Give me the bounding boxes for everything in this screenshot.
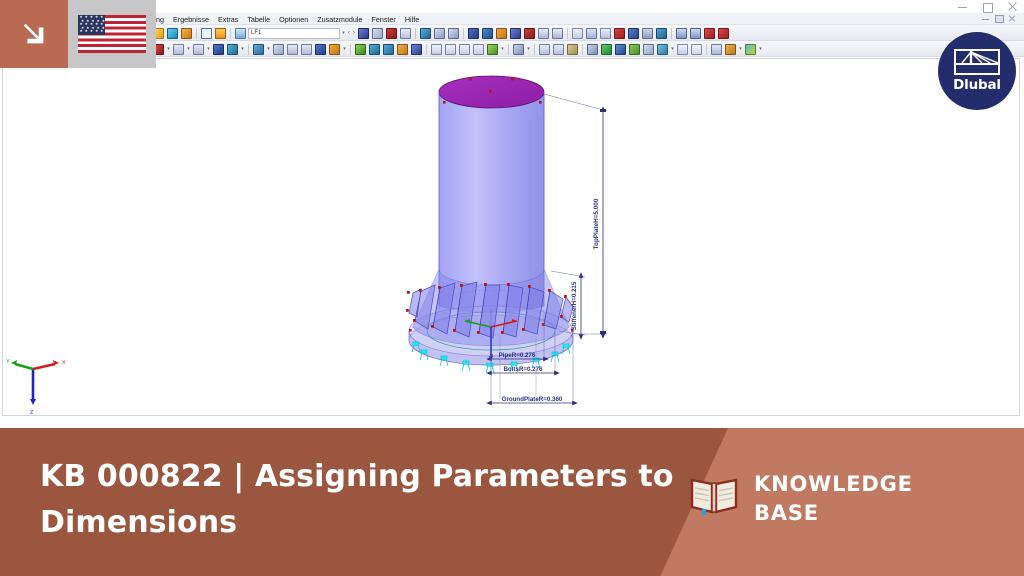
isolines-icon[interactable] bbox=[614, 43, 627, 56]
grid-show-icon[interactable] bbox=[300, 43, 313, 56]
toolbar-separator bbox=[196, 28, 197, 39]
dlubal-wordmark: Dlubal bbox=[953, 77, 1001, 93]
menu-item-optionen[interactable]: Optionen bbox=[279, 15, 308, 24]
kb-line-2: BASE bbox=[754, 499, 913, 528]
color-scale-icon[interactable] bbox=[690, 43, 703, 56]
bottom-banner: KB 000822 | Assigning Parameters to Dime… bbox=[0, 428, 1024, 576]
toolbar-separator bbox=[415, 28, 416, 39]
toolbar-separator bbox=[426, 44, 427, 55]
zoom-in-icon[interactable] bbox=[368, 43, 381, 56]
toolbar-separator bbox=[230, 28, 231, 39]
maximize-icon[interactable] bbox=[982, 1, 993, 12]
axis-label-x: X bbox=[62, 360, 66, 366]
chevron-down-icon[interactable]: ▾ bbox=[266, 44, 271, 55]
rotate-icon[interactable] bbox=[627, 27, 640, 40]
menu-item-tabelle[interactable]: Tabelle bbox=[247, 15, 270, 24]
toolbar-separator bbox=[706, 44, 707, 55]
model-tools-icon[interactable] bbox=[586, 43, 599, 56]
bookmark-red-icon[interactable] bbox=[703, 27, 716, 40]
open-folder-icon[interactable] bbox=[166, 27, 179, 40]
toolbar-row-2-items[interactable]: ▾ ▾ ▾ ▾ ▾ ▾ bbox=[152, 41, 763, 57]
toolbar-separator bbox=[582, 44, 583, 55]
print-preview-icon[interactable] bbox=[234, 27, 247, 40]
zoom-all-icon[interactable] bbox=[396, 43, 409, 56]
dimension-icon[interactable] bbox=[538, 43, 551, 56]
stresses-icon[interactable] bbox=[509, 27, 522, 40]
mdi-minimize-icon[interactable] bbox=[982, 14, 990, 22]
window-tile-icon[interactable] bbox=[675, 27, 688, 40]
contact-forces-icon[interactable] bbox=[523, 27, 536, 40]
toolbar-separator bbox=[508, 44, 509, 55]
surface-results-icon[interactable] bbox=[600, 43, 613, 56]
toolbar-separator bbox=[248, 44, 249, 55]
dimension-label-bolts-radius: BoltsR=0.276 bbox=[503, 366, 543, 373]
dimension-label-pipe-radius: PipeR=0.276 bbox=[499, 352, 536, 359]
zoom-window-icon[interactable] bbox=[172, 43, 185, 56]
view-xz-icon[interactable] bbox=[444, 43, 457, 56]
language-arrow-badge bbox=[0, 0, 68, 68]
mdi-close-icon[interactable] bbox=[1008, 14, 1016, 22]
window-controls[interactable] bbox=[957, 1, 1018, 12]
dimension-label-top-plate-height: TopPlateH=5.000 bbox=[593, 198, 600, 249]
open-book-icon bbox=[690, 474, 738, 516]
close-icon[interactable] bbox=[1007, 1, 1018, 12]
zoom-out-icon[interactable] bbox=[382, 43, 395, 56]
toolbar-separator bbox=[567, 28, 568, 39]
sections-icon[interactable] bbox=[551, 27, 564, 40]
view-yz-icon[interactable] bbox=[458, 43, 471, 56]
minimize-icon[interactable] bbox=[957, 1, 968, 12]
bookmark-add-icon[interactable] bbox=[717, 27, 730, 40]
ortho-icon[interactable] bbox=[328, 43, 341, 56]
node-icon[interactable] bbox=[585, 27, 598, 40]
nav-next-icon[interactable]: › bbox=[352, 30, 356, 36]
chevron-down-icon[interactable]: ▾ bbox=[186, 44, 191, 55]
model-viewport[interactable]: TopPlateH=5.000 StiffenerH=0.215 PipeR=0… bbox=[2, 58, 1020, 416]
language-flag-badge: ★ ★ ★ ★ ★ ★ ★ ★ ★ ★ ★ ★ ★ ★ ★ ★ ★ ★ ★ ★ … bbox=[68, 0, 156, 68]
comment-icon[interactable] bbox=[552, 43, 565, 56]
delete-icon[interactable] bbox=[613, 27, 626, 40]
support-reactions-icon[interactable] bbox=[481, 27, 494, 40]
table-view-icon[interactable] bbox=[200, 27, 213, 40]
result-table-icon[interactable] bbox=[676, 43, 689, 56]
arrow-down-right-icon bbox=[19, 19, 49, 49]
view-free-icon[interactable] bbox=[486, 43, 499, 56]
chevron-down-icon[interactable]: ▾ bbox=[342, 44, 347, 55]
menu-item-hilfe[interactable]: Hilfe bbox=[405, 15, 419, 24]
snap-object-icon[interactable] bbox=[314, 43, 327, 56]
chevron-down-icon[interactable]: ▾ bbox=[526, 44, 531, 55]
nav-prev-icon[interactable]: ‹ bbox=[347, 30, 351, 36]
mesh-icon[interactable] bbox=[419, 27, 432, 40]
chevron-down-icon[interactable]: ▾ bbox=[670, 44, 675, 55]
grid-snap-icon[interactable] bbox=[286, 43, 299, 56]
toolbar-row-1-items[interactable]: LF1 ▾ ‹ › bbox=[152, 25, 730, 41]
warning-icon[interactable] bbox=[599, 27, 612, 40]
measure-icon[interactable] bbox=[571, 27, 584, 40]
print-icon[interactable] bbox=[710, 43, 723, 56]
result-legend-icon[interactable] bbox=[744, 43, 757, 56]
rotate-view-icon[interactable] bbox=[212, 43, 225, 56]
render-view-icon[interactable] bbox=[214, 27, 227, 40]
result-combination-icon[interactable] bbox=[385, 27, 398, 40]
model-3d-scene[interactable]: TopPlateH=5.000 StiffenerH=0.215 PipeR=0… bbox=[3, 59, 1020, 416]
calculate-all-icon[interactable] bbox=[447, 27, 460, 40]
result-diagram-icon[interactable] bbox=[537, 27, 550, 40]
clipping-plane-icon[interactable] bbox=[566, 43, 579, 56]
color-palette-icon[interactable] bbox=[724, 43, 737, 56]
view-xy-icon[interactable] bbox=[430, 43, 443, 56]
calculate-icon[interactable] bbox=[433, 27, 446, 40]
redo-icon[interactable] bbox=[272, 43, 285, 56]
photo-icon[interactable] bbox=[641, 27, 654, 40]
dlubal-logo[interactable]: Dlubal bbox=[938, 32, 1016, 110]
chevron-down-icon[interactable]: ▾ bbox=[240, 44, 245, 55]
toolbar-separator bbox=[534, 44, 535, 55]
menu-item-ergebnisse[interactable]: Ergebnisse bbox=[173, 15, 209, 24]
menu-item-extras[interactable]: Extras bbox=[218, 15, 238, 24]
toolbar-separator bbox=[463, 28, 464, 39]
axis-label-z: Z bbox=[30, 410, 34, 416]
load-case-combo[interactable]: LF1 bbox=[248, 28, 340, 39]
chevron-down-icon[interactable]: ▾ bbox=[758, 44, 763, 55]
menu-item-zusatzmodule[interactable]: Zusatzmodule bbox=[317, 15, 362, 24]
select-icon[interactable] bbox=[399, 27, 412, 40]
chevron-down-icon[interactable]: ▾ bbox=[206, 44, 211, 55]
menu-bar-items[interactable]: ung Ergebnisse Extras Tabelle Optionen Z… bbox=[152, 13, 419, 25]
menu-item-fenster[interactable]: Fenster bbox=[371, 15, 395, 24]
display-properties-icon[interactable] bbox=[512, 43, 525, 56]
visibility-icon[interactable] bbox=[354, 43, 367, 56]
save-icon[interactable] bbox=[180, 27, 193, 40]
zoom-previous-icon[interactable] bbox=[410, 43, 423, 56]
mdi-restore-icon[interactable] bbox=[995, 14, 1003, 22]
knowledge-base-label: KNOWLEDGE BASE bbox=[754, 470, 913, 527]
mdi-window-controls[interactable] bbox=[982, 14, 1016, 22]
axis-label-y: Y bbox=[6, 359, 10, 365]
chevron-down-icon[interactable]: ▾ bbox=[341, 28, 346, 39]
page-title: KB 000822 | Assigning Parameters to Dime… bbox=[40, 454, 680, 545]
global-axes-triad: X Y Z bbox=[6, 359, 66, 416]
dlubal-framework-icon bbox=[954, 49, 1000, 75]
load-combination-icon[interactable] bbox=[371, 27, 384, 40]
pipe-surface bbox=[439, 92, 544, 312]
dimension-label-stiffener-height: StiffenerH=0.215 bbox=[571, 281, 578, 330]
chevron-down-icon[interactable]: ▾ bbox=[500, 44, 505, 55]
internal-forces-icon[interactable] bbox=[495, 27, 508, 40]
toolbar-separator bbox=[350, 44, 351, 55]
chevron-down-icon[interactable]: ▾ bbox=[738, 44, 743, 55]
undo-icon[interactable] bbox=[252, 43, 265, 56]
loads-icon[interactable] bbox=[357, 27, 370, 40]
dimension-label-ground-plate-radius: GroundPlateR=0.360 bbox=[502, 396, 563, 403]
screenshot-root: ung Ergebnisse Extras Tabelle Optionen Z… bbox=[0, 0, 1024, 576]
window-cascade-icon[interactable] bbox=[689, 27, 702, 40]
toolbar-separator bbox=[671, 28, 672, 39]
view-iso-icon[interactable] bbox=[472, 43, 485, 56]
result-beams-icon[interactable] bbox=[642, 43, 655, 56]
values-on-surfaces-icon[interactable] bbox=[628, 43, 641, 56]
smoothing-icon[interactable] bbox=[656, 43, 669, 56]
us-flag-icon: ★ ★ ★ ★ ★ ★ ★ ★ ★ ★ ★ ★ ★ ★ ★ ★ ★ ★ ★ ★ … bbox=[78, 15, 146, 53]
wind-icon[interactable] bbox=[655, 27, 668, 40]
flag-stars: ★ ★ ★ ★ ★ ★ ★ ★ ★ ★ ★ ★ ★ ★ ★ ★ ★ ★ ★ ★ … bbox=[78, 15, 105, 35]
pan-icon[interactable] bbox=[192, 43, 205, 56]
chevron-down-icon[interactable]: ▾ bbox=[166, 44, 171, 55]
deformation-icon[interactable] bbox=[467, 27, 480, 40]
render-mode-icon[interactable] bbox=[226, 43, 239, 56]
kb-line-1: KNOWLEDGE bbox=[754, 470, 913, 499]
knowledge-base-badge: KNOWLEDGE BASE bbox=[690, 470, 913, 527]
